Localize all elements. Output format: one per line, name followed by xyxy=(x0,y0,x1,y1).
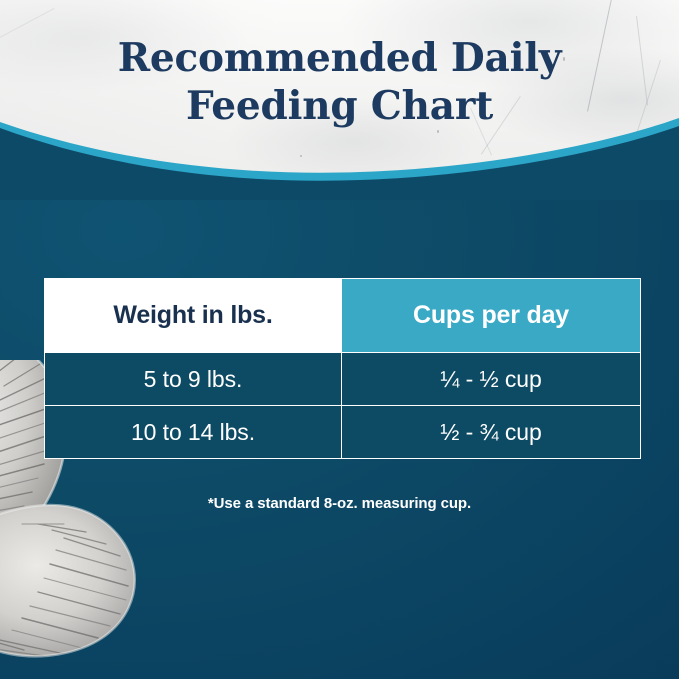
column-header-weight: Weight in lbs. xyxy=(45,279,342,353)
page-title: Recommended Daily Feeding Chart xyxy=(0,34,679,130)
cell-cups: ½ - ¾ cup xyxy=(342,406,641,459)
page-title-line-2: Feeding Chart xyxy=(0,82,679,130)
table-row: 10 to 14 lbs. ½ - ¾ cup xyxy=(45,406,641,459)
cell-weight: 5 to 9 lbs. xyxy=(45,353,342,406)
table-header-row: Weight in lbs. Cups per day xyxy=(45,279,641,353)
cell-weight: 10 to 14 lbs. xyxy=(45,406,342,459)
footnote: *Use a standard 8-oz. measuring cup. xyxy=(0,495,679,512)
cell-cups: ¼ - ½ cup xyxy=(342,353,641,406)
feeding-chart-graphic: Recommended Daily Feeding Chart xyxy=(0,0,679,679)
divider-navy-wave xyxy=(0,126,679,200)
cat-paw-lower xyxy=(0,505,135,656)
feeding-table: Weight in lbs. Cups per day 5 to 9 lbs. … xyxy=(44,278,641,459)
column-header-cups: Cups per day xyxy=(342,279,641,353)
page-title-line-1: Recommended Daily xyxy=(118,35,562,81)
table-row: 5 to 9 lbs. ¼ - ½ cup xyxy=(45,353,641,406)
